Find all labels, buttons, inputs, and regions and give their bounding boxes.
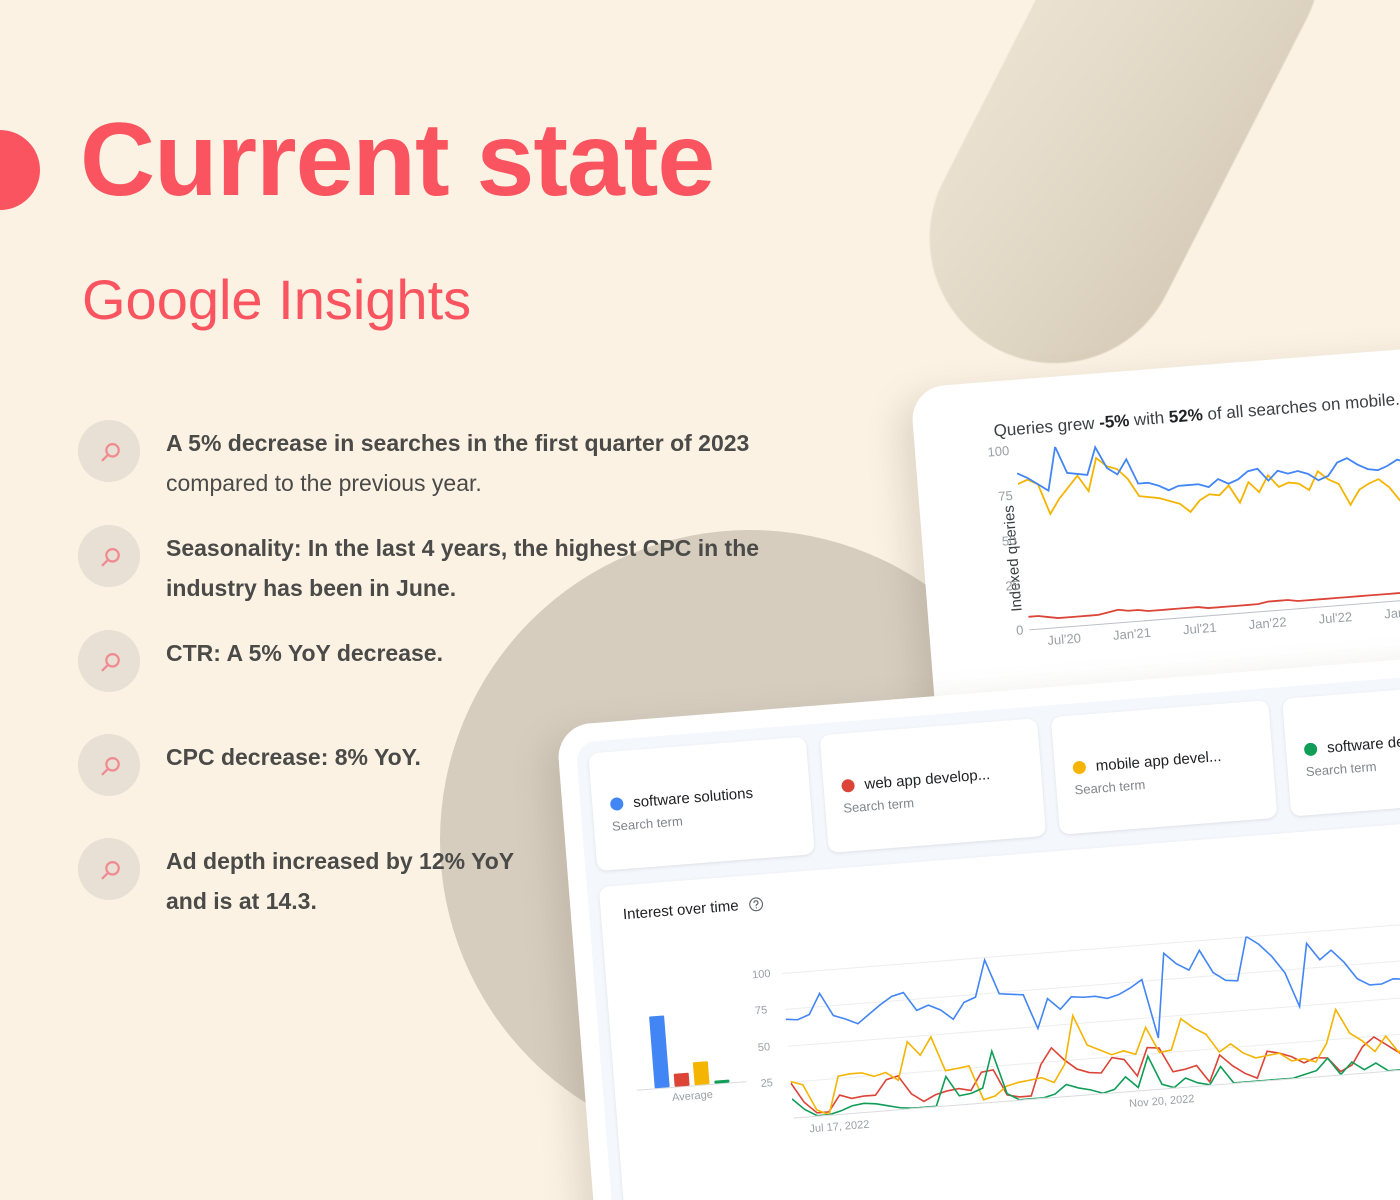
y-tick-label: 50: [757, 1041, 770, 1054]
series-line: [1016, 432, 1400, 531]
list-item-regular: compared to the previous year.: [166, 470, 482, 496]
y-tick-label: 50: [1001, 533, 1017, 549]
indexed-queries-chart: Indexed queries 0255075100 Jul'20Jan'21J…: [953, 418, 1400, 669]
slide-canvas: Current state Google Insights A 5% decre…: [0, 0, 1400, 1200]
tablet-device-bottom: software solutions Search term web app d…: [556, 647, 1400, 1200]
y-tick-label: 75: [755, 1005, 768, 1018]
series-line: [787, 979, 1400, 1117]
decorative-beige-pill: [887, 0, 1364, 406]
search-term-card[interactable]: software develop... Search term: [1282, 682, 1400, 817]
search-term-name: mobile app devel...: [1095, 748, 1222, 775]
average-bar: [673, 1073, 689, 1087]
google-trends-screen: software solutions Search term web app d…: [575, 666, 1400, 1200]
series-line: [789, 1008, 1400, 1118]
y-tick-label: 0: [1016, 622, 1024, 638]
x-tick-label: Jul'20: [1047, 630, 1082, 648]
search-icon: [78, 630, 140, 692]
interest-over-time-title: Interest over time: [622, 895, 765, 923]
x-tick-label: Jan'23: [1384, 604, 1400, 622]
interest-over-time-chart: 255075100 Jul 17, 2022Nov 20, 2022Mar 26…: [752, 914, 1400, 1120]
trends-page: software solutions Search term web app d…: [575, 666, 1400, 1200]
search-term-card[interactable]: software solutions Search term: [588, 736, 815, 871]
list-item-text: CTR: A 5% YoY decrease.: [166, 630, 443, 674]
list-item-bold: A 5% decrease in searches in the first q…: [166, 430, 749, 456]
interest-over-time-label: Interest over time: [622, 897, 739, 923]
queries-panel: Queries grew -5% with 52% of all searche…: [929, 359, 1400, 718]
list-item: CTR: A 5% YoY decrease.: [78, 630, 868, 692]
y-tick-label: 25: [760, 1077, 773, 1090]
list-item-text: Ad depth increased by 12% YoY and is at …: [166, 838, 526, 921]
page-title: Current state: [80, 108, 714, 212]
y-tick-label: 100: [752, 968, 771, 981]
x-tick-label: Jul'22: [1318, 609, 1353, 627]
search-term-name: software develop...: [1326, 730, 1400, 757]
interest-over-time-body: Average 255075100 Jul 17, 2022Nov 20, 20…: [629, 914, 1400, 1130]
series-color-dot: [841, 779, 855, 793]
list-item-text: CPC decrease: 8% YoY.: [166, 734, 421, 778]
search-icon: [78, 525, 140, 587]
average-bar: [692, 1061, 709, 1085]
y-tick-label: 100: [987, 443, 1010, 460]
search-term-card[interactable]: mobile app devel... Search term: [1051, 700, 1278, 835]
average-bars: [629, 976, 747, 1089]
queries-plot: [1015, 418, 1400, 630]
list-item: A 5% decrease in searches in the first q…: [78, 420, 868, 503]
list-item: Seasonality: In the last 4 years, the hi…: [78, 525, 868, 608]
search-term-card[interactable]: web app develop... Search term: [820, 718, 1047, 853]
search-icon: [78, 734, 140, 796]
x-tick-label: Jan'21: [1112, 625, 1151, 643]
search-term-name: web app develop...: [864, 766, 991, 793]
page-subtitle: Google Insights: [82, 272, 471, 328]
interest-plot: [782, 914, 1400, 1118]
x-tick-label: Jul 17, 2022: [809, 1119, 870, 1136]
series-line: [782, 914, 1400, 1067]
search-icon: [78, 420, 140, 482]
x-tick-label: Nov 20, 2022: [1129, 1093, 1195, 1110]
x-tick-label: Jan'22: [1248, 614, 1287, 632]
interest-over-time-card: Interest over time: [599, 813, 1400, 1200]
list-item-text: Seasonality: In the last 4 years, the hi…: [166, 525, 766, 608]
decorative-red-circle: [0, 130, 40, 210]
x-tick-label: Jul'21: [1182, 620, 1217, 638]
series-line: [790, 1009, 1400, 1114]
average-column: Average: [629, 976, 750, 1129]
search-term-name: software solutions: [633, 785, 754, 811]
series-color-dot: [1304, 742, 1318, 756]
series-color-dot: [610, 797, 624, 811]
y-tick-label: 25: [1005, 578, 1021, 594]
search-icon: [78, 838, 140, 900]
average-bar: [649, 1015, 670, 1088]
y-tick-label: 75: [998, 488, 1014, 504]
help-circle-icon[interactable]: [747, 895, 765, 913]
list-item-text: A 5% decrease in searches in the first q…: [166, 420, 749, 503]
series-color-dot: [1072, 761, 1086, 775]
